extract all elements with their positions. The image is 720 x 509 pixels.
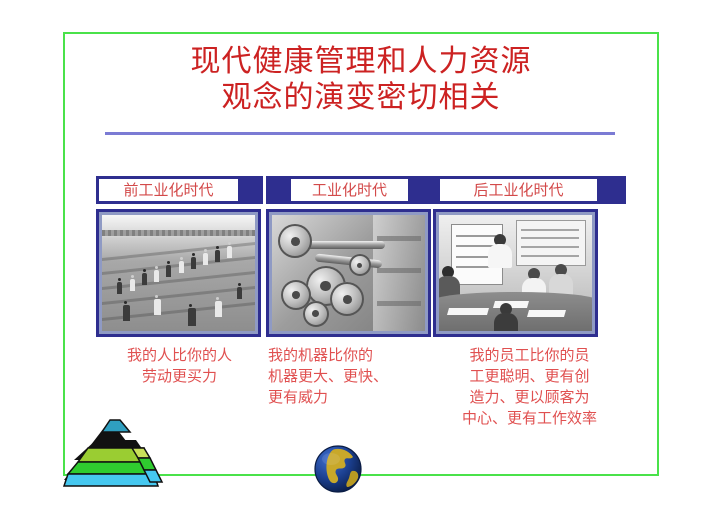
era-photo-frame-2 (266, 209, 431, 337)
era-column-post-industrial: 后工业化时代 (433, 176, 626, 430)
slide: 现代健康管理和人力资源 观念的演变密切相关 前工业化时代 (0, 0, 720, 509)
era-header-label-2: 工业化时代 (291, 179, 408, 201)
pre-industrial-field-workers-photo (102, 215, 255, 331)
globe-icon (312, 443, 364, 495)
era-header-badge-2: 工业化时代 (266, 176, 433, 204)
layered-pyramid-icon (58, 414, 166, 494)
era-header-badge-1: 前工业化时代 (96, 176, 263, 204)
photo-treeline (102, 230, 255, 236)
machine-panel (373, 215, 425, 331)
era-header-label-3: 后工业化时代 (440, 179, 597, 201)
era-column-industrial: 工业化时代 (266, 176, 433, 409)
era-photo-frame-1 (96, 209, 261, 337)
slide-title: 现代健康管理和人力资源 观念的演变密切相关 (63, 44, 659, 116)
era-header-badge-3: 后工业化时代 (433, 176, 626, 204)
title-line-1: 现代健康管理和人力资源 (63, 44, 659, 80)
title-line-2: 观念的演变密切相关 (63, 80, 659, 116)
era-column-pre-industrial: 前工业化时代 (96, 176, 263, 388)
title-divider-rule (105, 132, 615, 135)
era-caption-3: 我的员工比你的员 工更聪明、更有创 造力、更以顾客为 中心、更有工作效率 (433, 346, 626, 430)
post-industrial-office-meeting-photo (439, 215, 592, 331)
era-photo-frame-3 (433, 209, 598, 337)
era-columns: 前工业化时代 (63, 176, 659, 436)
era-caption-2: 我的机器比你的 机器更大、更快、 更有威力 (266, 346, 433, 409)
wall-chart (516, 220, 586, 266)
industrial-machinery-gears-photo (272, 215, 425, 331)
era-header-label-1: 前工业化时代 (99, 179, 238, 201)
era-caption-1: 我的人比你的人 劳动更买力 (96, 346, 263, 388)
